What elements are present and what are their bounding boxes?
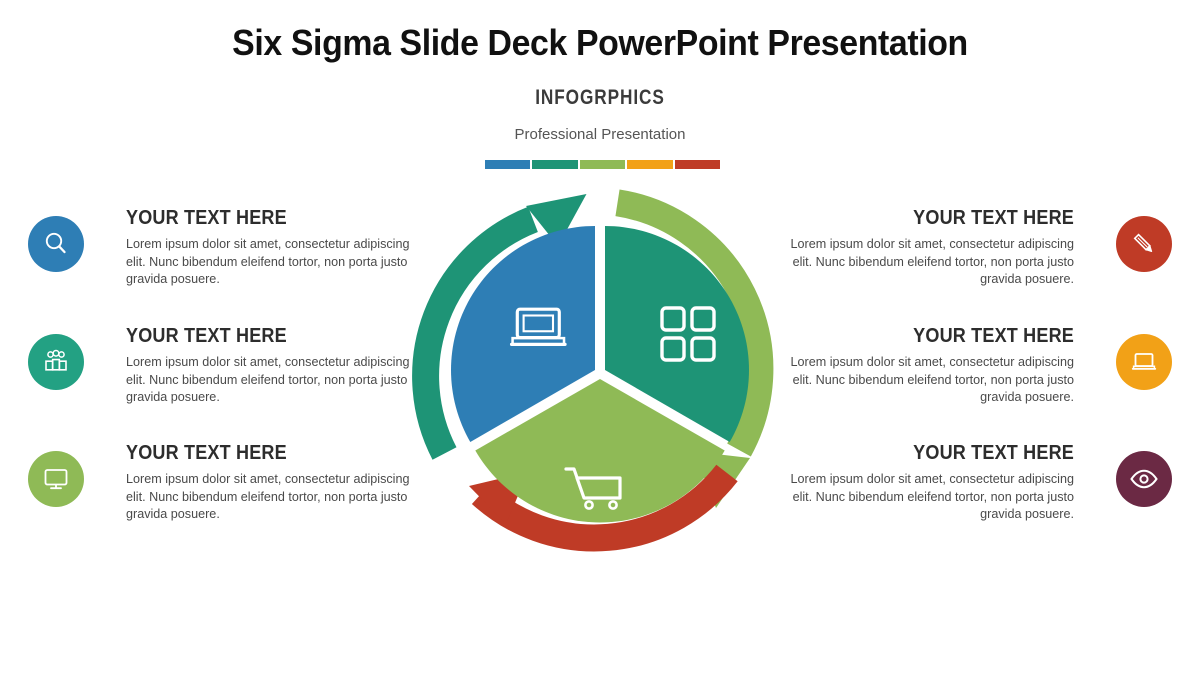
search-icon-badge[interactable] — [28, 216, 84, 272]
feature-body: Lorem ipsum dolor sit amet, consectetur … — [126, 471, 422, 524]
feature-heading: YOUR TEXT HERE — [126, 206, 386, 230]
feature-item-left-3[interactable]: YOUR TEXT HERE Lorem ipsum dolor sit ame… — [28, 441, 398, 545]
eye-icon — [1128, 463, 1160, 495]
feature-item-right-3[interactable]: YOUR TEXT HERE Lorem ipsum dolor sit ame… — [802, 441, 1172, 545]
feature-text-block: YOUR TEXT HERE Lorem ipsum dolor sit ame… — [778, 441, 1074, 524]
feature-text-block: YOUR TEXT HERE Lorem ipsum dolor sit ame… — [778, 206, 1074, 289]
monitor-icon — [41, 464, 71, 494]
feature-text-block: YOUR TEXT HERE Lorem ipsum dolor sit ame… — [126, 324, 422, 407]
feature-heading: YOUR TEXT HERE — [814, 441, 1074, 465]
feature-item-left-1[interactable]: YOUR TEXT HERE Lorem ipsum dolor sit ame… — [28, 206, 398, 310]
feature-heading: YOUR TEXT HERE — [126, 441, 386, 465]
feature-heading: YOUR TEXT HERE — [814, 206, 1074, 230]
feature-body: Lorem ipsum dolor sit amet, consectetur … — [126, 236, 422, 289]
page-title: Six Sigma Slide Deck PowerPoint Presenta… — [36, 22, 1164, 64]
search-icon — [41, 229, 71, 259]
feature-body: Lorem ipsum dolor sit amet, consectetur … — [126, 354, 422, 407]
feature-text-block: YOUR TEXT HERE Lorem ipsum dolor sit ame… — [126, 206, 422, 289]
feature-heading: YOUR TEXT HERE — [126, 324, 386, 348]
eye-icon-badge[interactable] — [1116, 451, 1172, 507]
professional-presentation-subheading: Professional Presentation — [400, 126, 800, 143]
cycle-wheel-diagram — [398, 168, 802, 572]
feature-body: Lorem ipsum dolor sit amet, consectetur … — [778, 471, 1074, 524]
feature-body: Lorem ipsum dolor sit amet, consectetur … — [778, 236, 1074, 289]
users-group-icon — [41, 347, 71, 377]
feature-heading: YOUR TEXT HERE — [814, 324, 1074, 348]
pencil-icon — [1129, 229, 1159, 259]
users-group-icon-badge[interactable] — [28, 334, 84, 390]
feature-item-right-1[interactable]: YOUR TEXT HERE Lorem ipsum dolor sit ame… — [802, 206, 1172, 310]
infographics-heading: INFOGRPHICS — [436, 86, 764, 110]
feature-body: Lorem ipsum dolor sit amet, consectetur … — [778, 354, 1074, 407]
feature-text-block: YOUR TEXT HERE Lorem ipsum dolor sit ame… — [126, 441, 422, 524]
pencil-icon-badge[interactable] — [1116, 216, 1172, 272]
feature-item-right-2[interactable]: YOUR TEXT HERE Lorem ipsum dolor sit ame… — [802, 324, 1172, 428]
presentation-slide: Six Sigma Slide Deck PowerPoint Presenta… — [0, 0, 1200, 675]
center-header-block: INFOGRPHICS Professional Presentation — [400, 86, 800, 143]
feature-item-left-2[interactable]: YOUR TEXT HERE Lorem ipsum dolor sit ame… — [28, 324, 398, 428]
laptop-icon-badge[interactable] — [1116, 334, 1172, 390]
monitor-icon-badge[interactable] — [28, 451, 84, 507]
cycle-wheel-svg — [398, 168, 802, 572]
feature-text-block: YOUR TEXT HERE Lorem ipsum dolor sit ame… — [778, 324, 1074, 407]
laptop-icon — [1129, 347, 1159, 377]
